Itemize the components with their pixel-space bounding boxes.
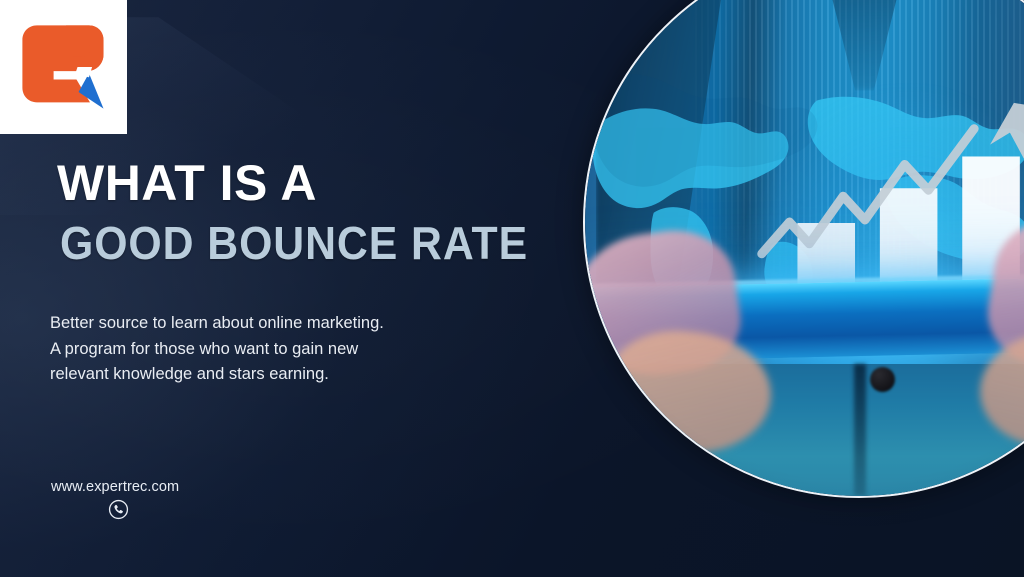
website-url[interactable]: www.expertrec.com — [51, 479, 185, 495]
body-paragraph: Better source to learn about online mark… — [50, 311, 470, 388]
body-line-3: relevant knowledge and stars earning. — [50, 362, 470, 388]
body-line-1: Better source to learn about online mark… — [50, 311, 470, 337]
phone-icon-wrap — [51, 499, 185, 520]
footer: www.expertrec.com — [51, 479, 185, 520]
phone-circle-icon[interactable] — [108, 499, 129, 520]
body-line-2: A program for those who want to gain new — [50, 337, 470, 363]
copy-column: WHAT IS A GOOD BOUNCE RATE Better source… — [0, 0, 560, 577]
shirt-placket — [854, 364, 866, 496]
headline-line-1: WHAT IS A — [57, 158, 317, 208]
banner: WHAT IS A GOOD BOUNCE RATE Better source… — [0, 0, 1024, 577]
headline-line-2: GOOD BOUNCE RATE — [60, 220, 528, 266]
photo-inner — [585, 0, 1024, 496]
trend-arrow-head — [990, 103, 1024, 159]
circular-hero-photo — [583, 0, 1024, 498]
trend-line — [762, 129, 974, 254]
